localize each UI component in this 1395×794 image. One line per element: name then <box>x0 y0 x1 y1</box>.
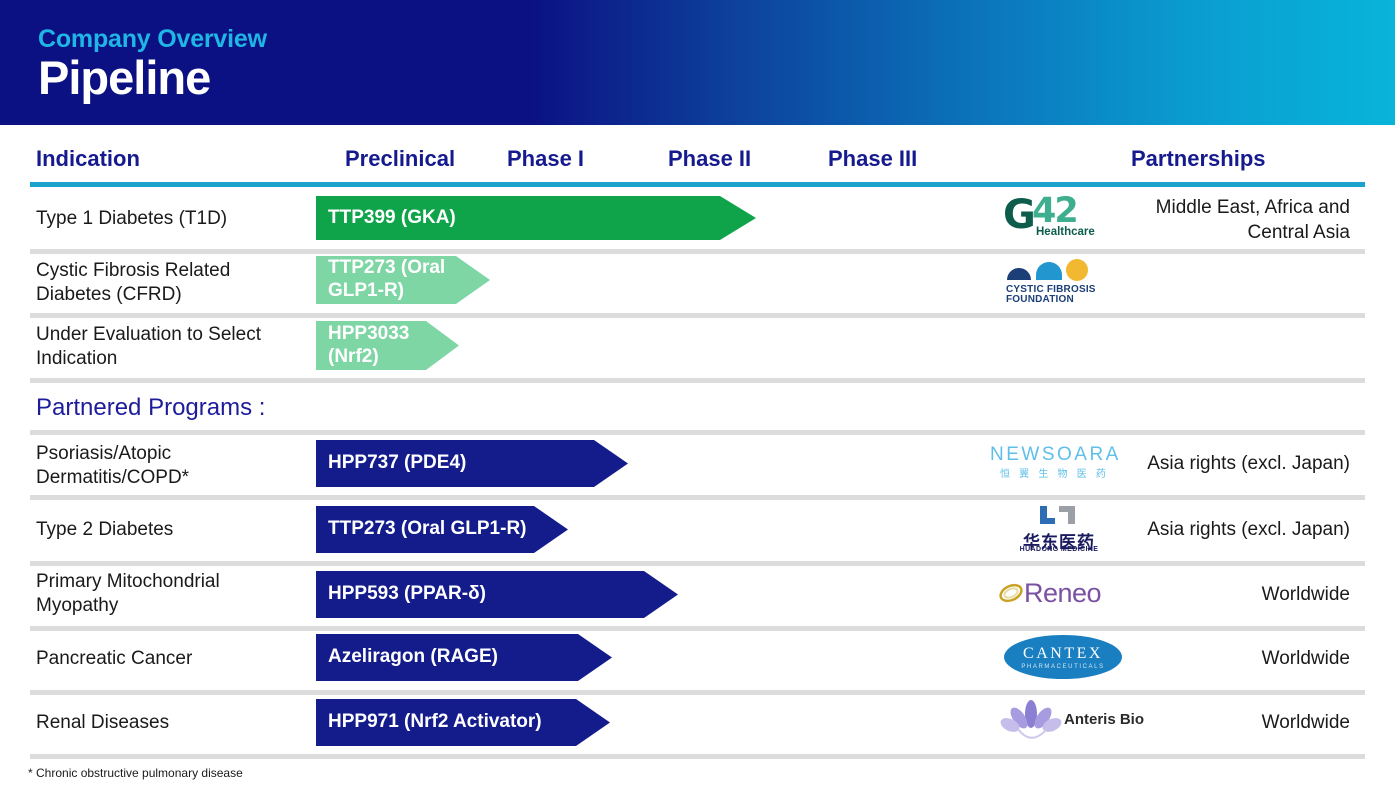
row-divider <box>30 313 1365 318</box>
huadong-english-wordmark: HUADONG MEDICINE <box>1012 546 1106 553</box>
row-divider <box>30 690 1365 695</box>
huadong-medicine-logo: 华东医药 HUADONG MEDICINE <box>1012 504 1106 556</box>
page-title: Pipeline <box>38 54 210 101</box>
reneo-wordmark: Reneo <box>1024 578 1101 609</box>
row-divider <box>30 626 1365 631</box>
partnership-terms: Asia rights (excl. Japan) <box>1120 518 1350 543</box>
partnership-terms: Middle East, Africa and Central Asia <box>1120 196 1350 245</box>
cff-arc-navy <box>1007 268 1031 280</box>
g42-healthcare-wordmark: Healthcare <box>1036 226 1095 238</box>
pipeline-arrow-label: Azeliragon (RAGE) <box>328 646 498 669</box>
cystic-fibrosis-foundation-logo: CYSTIC FIBROSIS FOUNDATION <box>1005 258 1105 306</box>
g42-number-42: 42 <box>1032 194 1077 229</box>
column-header-preclinical: Preclinical <box>345 146 455 172</box>
pipeline-arrow-ttp273-cfrd[interactable]: TTP273 (Oral GLP1-R) <box>316 256 490 304</box>
indication-label: Type 1 Diabetes (T1D) <box>36 207 301 231</box>
pipeline-arrow-label: TTP273 (Oral GLP1-R) <box>328 518 527 541</box>
indication-label: Under Evaluation to Select Indication <box>36 323 301 371</box>
newsoara-wordmark: NEWSOARA <box>990 444 1121 466</box>
column-header-phase-3: Phase III <box>828 146 917 172</box>
partnership-terms: Worldwide <box>1120 647 1350 672</box>
indication-label: Pancreatic Cancer <box>36 647 301 671</box>
pipeline-arrow-label: HPP3033 (Nrf2) <box>328 323 426 369</box>
reneo-logo: Reneo <box>998 578 1110 612</box>
section-heading-partnered-programs: Partnered Programs : <box>36 394 265 422</box>
reneo-ring-mark <box>998 582 1024 604</box>
footnote: * Chronic obstructive pulmonary disease <box>28 766 243 780</box>
indication-label: Cystic Fibrosis Related Diabetes (CFRD) <box>36 259 301 307</box>
pipeline-arrow-hpp971[interactable]: HPP971 (Nrf2 Activator) <box>316 699 610 746</box>
row-divider <box>30 754 1365 759</box>
pipeline-arrow-label: HPP593 (PPAR-δ) <box>328 583 486 606</box>
cff-wordmark-line2: FOUNDATION <box>1006 294 1074 305</box>
pipeline-arrow-hpp737[interactable]: HPP737 (PDE4) <box>316 440 628 487</box>
column-header-phase-1: Phase I <box>507 146 584 172</box>
slide-header-band: Company Overview Pipeline <box>0 0 1395 125</box>
row-divider <box>30 249 1365 254</box>
cff-arc-blue <box>1036 262 1062 280</box>
partnership-terms: Worldwide <box>1120 583 1350 608</box>
indication-label: Psoriasis/Atopic Dermatitis/COPD* <box>36 442 301 490</box>
anteris-lotus-icon <box>1000 698 1062 744</box>
cantex-wordmark: CANTEX <box>1023 645 1103 663</box>
g42-healthcare-logo: G 42 Healthcare <box>1000 196 1118 242</box>
pipeline-arrow-label: HPP971 (Nrf2 Activator) <box>328 711 542 734</box>
partnership-terms: Asia rights (excl. Japan) <box>1120 452 1350 477</box>
pipeline-arrow-hpp3033[interactable]: HPP3033 (Nrf2) <box>316 321 459 370</box>
indication-label: Type 2 Diabetes <box>36 518 301 542</box>
header-eyebrow: Company Overview <box>38 25 267 54</box>
pipeline-arrow-label: TTP273 (Oral GLP1-R) <box>328 257 458 303</box>
pipeline-arrow-azeliragon[interactable]: Azeliragon (RAGE) <box>316 634 612 681</box>
row-divider <box>30 430 1365 435</box>
cantex-pharmaceuticals-logo: CANTEX PHARMACEUTICALS <box>1004 635 1122 679</box>
column-header-indication: Indication <box>36 146 140 172</box>
partnership-terms: Worldwide <box>1120 711 1350 736</box>
column-header-phase-2: Phase II <box>668 146 751 172</box>
g42-letter-g: G <box>1003 195 1036 235</box>
huadong-h-mark <box>1038 504 1078 526</box>
indication-label: Renal Diseases <box>36 711 301 735</box>
newsoara-logo: NEWSOARA 恒 翼 生 物 医 药 <box>990 444 1126 480</box>
row-divider <box>30 561 1365 566</box>
pipeline-arrow-hpp593[interactable]: HPP593 (PPAR-δ) <box>316 571 678 618</box>
pipeline-arrow-ttp273-t2d[interactable]: TTP273 (Oral GLP1-R) <box>316 506 568 553</box>
header-accent-rule <box>30 182 1365 187</box>
column-header-partnerships: Partnerships <box>1131 146 1266 172</box>
newsoara-chinese-wordmark: 恒 翼 生 物 医 药 <box>1000 465 1109 480</box>
indication-label: Primary Mitochondrial Myopathy <box>36 570 301 618</box>
row-divider <box>30 378 1365 383</box>
cff-circle-yellow <box>1066 259 1088 281</box>
pipeline-arrow-ttp399[interactable]: TTP399 (GKA) <box>316 196 756 240</box>
pipeline-arrow-label: HPP737 (PDE4) <box>328 452 466 475</box>
row-divider <box>30 495 1365 500</box>
cantex-subwordmark: PHARMACEUTICALS <box>1021 664 1104 670</box>
pipeline-arrow-label: TTP399 (GKA) <box>328 207 456 230</box>
